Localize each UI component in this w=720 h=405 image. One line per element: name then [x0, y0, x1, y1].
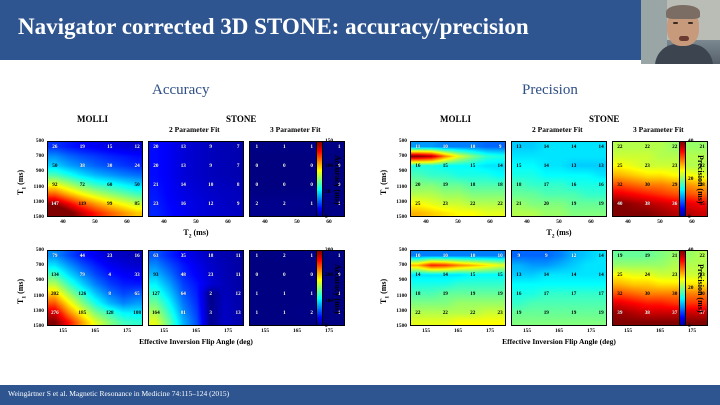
heatmap-cell-value: 36	[672, 201, 677, 207]
heatmap-cell-value: 2	[310, 310, 313, 316]
page-title: Navigator corrected 3D STONE: accuracy/p…	[18, 14, 529, 40]
heatmap-cell-value: 134	[51, 272, 59, 278]
heatmap-cell-value: 0	[283, 272, 286, 278]
heatmap-cell-value: 0	[256, 163, 259, 169]
heatmap-cell-value: 128	[106, 310, 114, 316]
panel-sub-label-2-parameter-fit: 2 Parameter Fit	[169, 125, 220, 134]
heatmap-canvas	[149, 251, 244, 326]
heatmap-cell-value: 18	[470, 182, 475, 188]
panel-group-label-molli: MOLLI	[77, 114, 108, 124]
x-axis-tick-label: 60	[588, 219, 593, 225]
heatmap-cell-value: 0	[283, 182, 286, 188]
heatmap-cell-value: 32	[617, 182, 622, 188]
heatmap-cell-value: 9	[209, 163, 212, 169]
colorbar-tick-label: 200	[325, 272, 333, 278]
heatmap-cell-value: 15	[498, 272, 503, 278]
heatmap-cell-value: 22	[617, 144, 622, 150]
heatmap-cell-value: 16	[599, 182, 604, 188]
heatmap-cell-value: 8	[237, 182, 240, 188]
heatmap-precision-t2-stone-3p: 22222221252323223230292840383635	[612, 141, 708, 217]
x-axis-tick-label: 40	[262, 219, 267, 225]
heatmap-cell-value: 15	[470, 272, 475, 278]
y-axis-tick-label: 1500	[388, 323, 407, 329]
x-axis-tick-label: 50	[294, 219, 299, 225]
y-axis-tick-label: 1100	[25, 293, 44, 299]
heatmap-cell-value: 12	[571, 253, 576, 259]
heatmap-cell-value: 7	[237, 163, 240, 169]
heatmap-cell-value: 15	[443, 163, 448, 169]
heatmap-cell-value: 202	[51, 291, 59, 297]
heatmap-canvas	[411, 142, 506, 217]
heatmap-cell-value: 30	[672, 291, 677, 297]
heatmap-cell-value: 14	[443, 272, 448, 278]
heatmap-precision-fa-stone-3p: 19192122252423233230303039383737	[612, 250, 708, 326]
y-axis-tick-label: 500	[388, 138, 407, 144]
heatmap-cell-value: 19	[498, 291, 503, 297]
x-axis-label: T2 (ms)	[47, 228, 345, 240]
heatmap-cell-value: 23	[153, 201, 158, 207]
heatmap-cell-value: 14	[181, 182, 186, 188]
section-heading-accuracy: Accuracy	[152, 82, 209, 99]
panel-sub-label-3-parameter-fit: 3 Parameter Fit	[270, 125, 321, 134]
panel-group-label-stone: STONE	[589, 114, 619, 124]
x-axis-tick-label: 155	[624, 328, 632, 334]
y-axis-tick-label: 1500	[25, 323, 44, 329]
heatmap-cell-value: 1	[256, 144, 259, 150]
x-axis-tick-label: 175	[486, 328, 494, 334]
heatmap-cell-value: 21	[153, 182, 158, 188]
heatmap-cell-value: 10	[443, 144, 448, 150]
heatmap-cell-value: 20	[153, 163, 158, 169]
heatmap-cell-value: 20	[153, 144, 158, 150]
heatmap-cell-value: 18	[498, 182, 503, 188]
y-axis-tick-label: 900	[388, 168, 407, 174]
heatmap-cell-value: 18	[516, 182, 521, 188]
heatmap-cell-value: 38	[645, 310, 650, 316]
heatmap-cell-value: 0	[256, 272, 259, 278]
heatmap-cell-value: 14	[599, 272, 604, 278]
heatmap-cell-value: 33	[135, 272, 140, 278]
heatmap-canvas	[613, 251, 708, 326]
heatmap-cell-value: 24	[135, 163, 140, 169]
heatmap-cell-value: 23	[443, 201, 448, 207]
citation-text: Weingärtner S et al. Magnetic Resonance …	[8, 389, 229, 398]
heatmap-precision-fa-molli: 10101010141415151819191922222223	[410, 250, 506, 326]
colorbar	[679, 141, 686, 217]
x-axis-tick-label: 155	[160, 328, 168, 334]
y-axis-tick-label: 1100	[388, 293, 407, 299]
heatmap-cell-value: 22	[443, 310, 448, 316]
y-axis-tick-label: 1500	[388, 214, 407, 220]
heatmap-accuracy-t2-molli: 2619151250383024927260501471199985	[47, 141, 143, 217]
x-axis-tick-label: 50	[92, 219, 97, 225]
colorbar-tick-label: 0	[325, 214, 328, 220]
x-axis-tick-label: 40	[423, 219, 428, 225]
x-axis-tick-label: 155	[261, 328, 269, 334]
heatmap-cell-value: 15	[107, 144, 112, 150]
heatmap-cell-value: 9	[237, 201, 240, 207]
heatmap-cell-value: 0	[310, 272, 313, 278]
heatmap-cell-value: 3	[209, 310, 212, 316]
colorbar	[316, 141, 323, 217]
heatmap-cell-value: 21	[516, 201, 521, 207]
heatmap-cell-value: 17	[571, 291, 576, 297]
heatmap-cell-value: 10	[208, 182, 213, 188]
heatmap-cell-value: 40	[617, 201, 622, 207]
heatmap-cell-value: 50	[52, 163, 57, 169]
heatmap-cell-value: 7	[237, 144, 240, 150]
heatmap-cell-value: 21	[700, 144, 705, 150]
heatmap-cell-value: 9	[499, 144, 502, 150]
x-axis-tick-label: 40	[60, 219, 65, 225]
heatmap-cell-value: 10	[470, 253, 475, 259]
heatmap-cell-value: 10	[498, 253, 503, 259]
y-axis-tick-label: 700	[25, 262, 44, 268]
heatmap-cell-value: 14	[544, 163, 549, 169]
heatmap-cell-value: 23	[645, 163, 650, 169]
x-axis-tick-label: 50	[193, 219, 198, 225]
x-axis-tick-label: 165	[656, 328, 664, 334]
heatmap-cell-value: 79	[52, 253, 57, 259]
colorbar-canvas	[680, 142, 686, 217]
heatmap-cell-value: 19	[571, 310, 576, 316]
x-axis-tick-label: 175	[587, 328, 595, 334]
colorbar-tick-label: 40	[688, 138, 693, 144]
colorbar-tick-label: 40	[688, 247, 693, 253]
heatmap-cell-value: 13	[181, 144, 186, 150]
y-axis-tick-label: 1100	[388, 184, 407, 190]
x-axis-tick-label: 50	[657, 219, 662, 225]
colorbar-label: Precision (ms)	[696, 264, 705, 313]
heatmap-cell-value: 164	[152, 310, 160, 316]
panel-group-label-molli: MOLLI	[440, 114, 471, 124]
heatmap-cell-value: 0	[256, 182, 259, 188]
heatmap-cell-value: 147	[51, 201, 59, 207]
y-axis-tick-label: 900	[388, 277, 407, 283]
heatmap-cell-value: 23	[498, 310, 503, 316]
heatmap-cell-value: 8	[108, 291, 111, 297]
y-axis-tick-label: 700	[25, 153, 44, 159]
heatmap-cell-value: 4	[108, 272, 111, 278]
colorbar-label: Precision (ms)	[696, 155, 705, 204]
heatmap-precision-t2-stone-2p: 13141414151413131817161621201919	[511, 141, 607, 217]
x-axis-tick-label: 155	[59, 328, 67, 334]
heatmap-cell-value: 81	[181, 310, 186, 316]
webcam-person-eye-right	[688, 22, 693, 24]
heatmap-cell-value: 14	[544, 144, 549, 150]
heatmap-canvas	[149, 142, 244, 217]
heatmap-cell-value: 185	[78, 310, 86, 316]
heatmap-cell-value: 21	[672, 253, 677, 259]
heatmap-cell-value: 14	[599, 144, 604, 150]
heatmap-cell-value: 14	[571, 144, 576, 150]
y-axis-tick-label: 1500	[25, 214, 44, 220]
heatmap-accuracy-t2-stone-2p: 20139720139721141082316129	[148, 141, 244, 217]
heatmap-canvas	[250, 251, 345, 326]
heatmap-cell-value: 14	[544, 272, 549, 278]
heatmap-cell-value: 19	[571, 201, 576, 207]
slide-title-bar: Navigator corrected 3D STONE: accuracy/p…	[0, 0, 720, 60]
x-axis-tick-label: 40	[625, 219, 630, 225]
colorbar-tick-label: 100	[325, 163, 333, 169]
heatmap-cell-value: 44	[80, 253, 85, 259]
heatmap-cell-value: 19	[443, 291, 448, 297]
colorbar-tick-label: 20	[688, 176, 693, 182]
heatmap-cell-value: 19	[80, 144, 85, 150]
heatmap-cell-value: 16	[571, 182, 576, 188]
heatmap-canvas	[250, 142, 345, 217]
section-heading-precision: Precision	[522, 82, 578, 99]
heatmap-cell-value: 17	[544, 291, 549, 297]
heatmap-accuracy-fa-stone-3p: 1211000011111121	[249, 250, 345, 326]
heatmap-cell-value: 18	[208, 253, 213, 259]
heatmap-cell-value: 26	[52, 144, 57, 150]
colorbar-tick-label: 150	[325, 138, 333, 144]
colorbar	[679, 250, 686, 326]
heatmap-cell-value: 99	[107, 201, 112, 207]
heatmap-accuracy-t2-stone-3p: 1111000000002211	[249, 141, 345, 217]
heatmap-cell-value: 127	[152, 291, 160, 297]
heatmap-cell-value: 1	[256, 310, 259, 316]
y-axis-tick-label: 1300	[25, 308, 44, 314]
heatmap-cell-value: 19	[617, 253, 622, 259]
heatmap-canvas	[48, 251, 143, 326]
heatmap-cell-value: 11	[236, 253, 241, 259]
heatmap-cell-value: 12	[135, 144, 140, 150]
heatmap-cell-value: 16	[135, 253, 140, 259]
heatmap-cell-value: 1	[310, 144, 313, 150]
heatmap-cell-value: 93	[153, 272, 158, 278]
heatmap-cell-value: 0	[310, 163, 313, 169]
heatmap-cell-value: 1	[256, 291, 259, 297]
heatmap-cell-value: 14	[571, 272, 576, 278]
colorbar-tick-label: 0	[688, 323, 691, 329]
heatmap-cell-value: 0	[310, 182, 313, 188]
heatmap-cell-value: 22	[672, 144, 677, 150]
heatmap-cell-value: 30	[107, 163, 112, 169]
heatmap-cell-value: 2	[283, 201, 286, 207]
colorbar-canvas	[680, 251, 686, 326]
heatmap-cell-value: 12	[236, 291, 241, 297]
heatmap-canvas	[48, 142, 143, 217]
heatmap-cell-value: 0	[283, 163, 286, 169]
heatmap-cell-value: 72	[80, 182, 85, 188]
x-axis-tick-label: 60	[487, 219, 492, 225]
heatmap-canvas	[613, 142, 708, 217]
y-axis-tick-label: 700	[388, 153, 407, 159]
x-axis-tick-label: 50	[455, 219, 460, 225]
webcam-person-eye-left	[673, 22, 678, 24]
heatmap-cell-value: 23	[672, 163, 677, 169]
y-axis-tick-label: 1300	[25, 199, 44, 205]
webcam-person-mouth	[679, 36, 689, 41]
heatmap-cell-value: 1	[283, 291, 286, 297]
heatmap-precision-fa-stone-2p: 991214131414141617171719191919	[511, 250, 607, 326]
y-axis-tick-label: 1300	[388, 308, 407, 314]
heatmap-cell-value: 10	[415, 253, 420, 259]
heatmap-cell-value: 2	[283, 253, 286, 259]
heatmap-cell-value: 1	[256, 253, 259, 259]
y-axis-tick-label: 500	[388, 247, 407, 253]
heatmap-cell-value: 13	[181, 163, 186, 169]
heatmap-cell-value: 23	[672, 272, 677, 278]
heatmap-cell-value: 12	[208, 201, 213, 207]
heatmap-cell-value: 65	[135, 291, 140, 297]
heatmap-cell-value: 64	[181, 291, 186, 297]
heatmap-cell-value: 1	[310, 201, 313, 207]
colorbar-label: Accuracy (ms)	[333, 155, 342, 205]
heatmap-cell-value: 19	[470, 291, 475, 297]
heatmap-cell-value: 32	[617, 291, 622, 297]
x-axis-tick-label: 165	[192, 328, 200, 334]
heatmap-cell-value: 15	[516, 163, 521, 169]
presenter-webcam-thumbnail	[641, 0, 720, 64]
heatmap-cell-value: 2	[209, 291, 212, 297]
heatmap-cell-value: 108	[133, 310, 141, 316]
heatmap-cell-value: 1	[310, 291, 313, 297]
x-axis-tick-label: 165	[91, 328, 99, 334]
webcam-person-hair	[666, 5, 700, 19]
heatmap-cell-value: 276	[51, 310, 59, 316]
heatmap-cell-value: 9	[545, 253, 548, 259]
heatmap-cell-value: 16	[181, 201, 186, 207]
heatmap-cell-value: 38	[645, 201, 650, 207]
y-axis-tick-label: 500	[25, 138, 44, 144]
heatmap-cell-value: 50	[135, 182, 140, 188]
panel-sub-label-3-parameter-fit: 3 Parameter Fit	[633, 125, 684, 134]
heatmap-cell-value: 19	[443, 182, 448, 188]
heatmap-cell-value: 48	[181, 272, 186, 278]
heatmap-cell-value: 19	[599, 310, 604, 316]
x-axis-label: Effective Inversion Flip Angle (deg)	[47, 337, 345, 346]
heatmap-cell-value: 25	[415, 201, 420, 207]
heatmap-cell-value: 38	[80, 163, 85, 169]
colorbar-tick-label: 0	[325, 323, 328, 329]
heatmap-cell-value: 10	[470, 144, 475, 150]
heatmap-cell-value: 1	[283, 144, 286, 150]
y-axis-tick-label: 500	[25, 247, 44, 253]
heatmap-cell-value: 19	[544, 310, 549, 316]
x-axis-tick-label: 175	[123, 328, 131, 334]
heatmap-cell-value: 14	[599, 253, 604, 259]
heatmap-cell-value: 1	[283, 310, 286, 316]
colorbar-tick-label: 300	[325, 247, 333, 253]
heatmap-cell-value: 126	[78, 291, 86, 297]
y-axis-tick-label: 900	[25, 277, 44, 283]
y-axis-tick-label: 700	[388, 262, 407, 268]
heatmap-cell-value: 63	[153, 253, 158, 259]
heatmap-cell-value: 14	[498, 163, 503, 169]
heatmap-canvas	[512, 142, 607, 217]
heatmap-cell-value: 25	[617, 272, 622, 278]
heatmap-cell-value: 13	[516, 272, 521, 278]
x-axis-tick-label: 40	[524, 219, 529, 225]
colorbar-canvas	[317, 142, 323, 217]
heatmap-cell-value: 22	[645, 144, 650, 150]
heatmap-precision-t2-molli: 1110109161515142019181825232222	[410, 141, 506, 217]
heatmap-cell-value: 13	[236, 310, 241, 316]
heatmap-cell-value: 22	[700, 253, 705, 259]
heatmap-cell-value: 22	[470, 310, 475, 316]
heatmap-cell-value: 19	[516, 310, 521, 316]
panel-group-label-stone: STONE	[226, 114, 256, 124]
heatmap-cell-value: 29	[672, 182, 677, 188]
panel-sub-label-2-parameter-fit: 2 Parameter Fit	[532, 125, 583, 134]
heatmap-accuracy-fa-molli: 7944231613479433202126865276185128108	[47, 250, 143, 326]
heatmap-canvas	[512, 251, 607, 326]
heatmap-cell-value: 20	[415, 182, 420, 188]
heatmap-canvas	[411, 251, 506, 326]
heatmap-cell-value: 16	[516, 291, 521, 297]
x-axis-tick-label: 40	[161, 219, 166, 225]
heatmap-cell-value: 23	[107, 253, 112, 259]
x-axis-tick-label: 165	[454, 328, 462, 334]
y-axis-tick-label: 1300	[388, 199, 407, 205]
colorbar-label: Accuracy (ms)	[333, 264, 342, 314]
heatmap-cell-value: 20	[544, 201, 549, 207]
x-axis-tick-label: 60	[124, 219, 129, 225]
heatmap-cell-value: 37	[672, 310, 677, 316]
y-axis-tick-label: 1100	[25, 184, 44, 190]
heatmap-cell-value: 24	[645, 272, 650, 278]
colorbar-tick-label: 20	[688, 285, 693, 291]
heatmap-cell-value: 14	[415, 272, 420, 278]
x-axis-label: Effective Inversion Flip Angle (deg)	[410, 337, 708, 346]
heatmap-cell-value: 16	[415, 163, 420, 169]
heatmap-cell-value: 10	[443, 253, 448, 259]
heatmap-cell-value: 22	[498, 201, 503, 207]
heatmap-cell-value: 17	[599, 291, 604, 297]
x-axis-label: T2 (ms)	[410, 228, 708, 240]
x-axis-tick-label: 165	[293, 328, 301, 334]
heatmap-cell-value: 1	[338, 144, 341, 150]
heatmap-cell-value: 22	[470, 201, 475, 207]
colorbar	[316, 250, 323, 326]
heatmap-cell-value: 39	[617, 310, 622, 316]
heatmap-cell-value: 79	[80, 272, 85, 278]
heatmap-cell-value: 23	[208, 272, 213, 278]
heatmap-cell-value: 92	[52, 182, 57, 188]
heatmap-cell-value: 1	[338, 253, 341, 259]
y-axis-tick-label: 900	[25, 168, 44, 174]
x-axis-tick-label: 165	[555, 328, 563, 334]
heatmap-cell-value: 17	[544, 182, 549, 188]
x-axis-tick-label: 175	[224, 328, 232, 334]
colorbar-tick-label: 100	[325, 298, 333, 304]
colorbar-tick-label: 0	[688, 214, 691, 220]
heatmap-cell-value: 119	[79, 201, 87, 207]
heatmap-cell-value: 30	[645, 182, 650, 188]
heatmap-cell-value: 30	[645, 291, 650, 297]
heatmap-cell-value: 60	[107, 182, 112, 188]
heatmap-cell-value: 13	[599, 163, 604, 169]
webcam-person-torso	[655, 44, 713, 64]
heatmap-cell-value: 13	[516, 144, 521, 150]
heatmap-cell-value: 15	[470, 163, 475, 169]
heatmap-cell-value: 1	[310, 253, 313, 259]
colorbar-canvas	[317, 251, 323, 326]
x-axis-tick-label: 155	[422, 328, 430, 334]
heatmap-cell-value: 13	[571, 163, 576, 169]
heatmap-cell-value: 35	[181, 253, 186, 259]
heatmap-cell-value: 18	[415, 291, 420, 297]
heatmap-cell-value: 11	[415, 144, 420, 150]
colorbar-tick-label: 50	[325, 189, 330, 195]
heatmap-cell-value: 25	[617, 163, 622, 169]
heatmap-accuracy-fa-stone-2p: 63351811934823111276421216481313	[148, 250, 244, 326]
heatmap-cell-value: 85	[135, 201, 140, 207]
x-axis-tick-label: 50	[556, 219, 561, 225]
